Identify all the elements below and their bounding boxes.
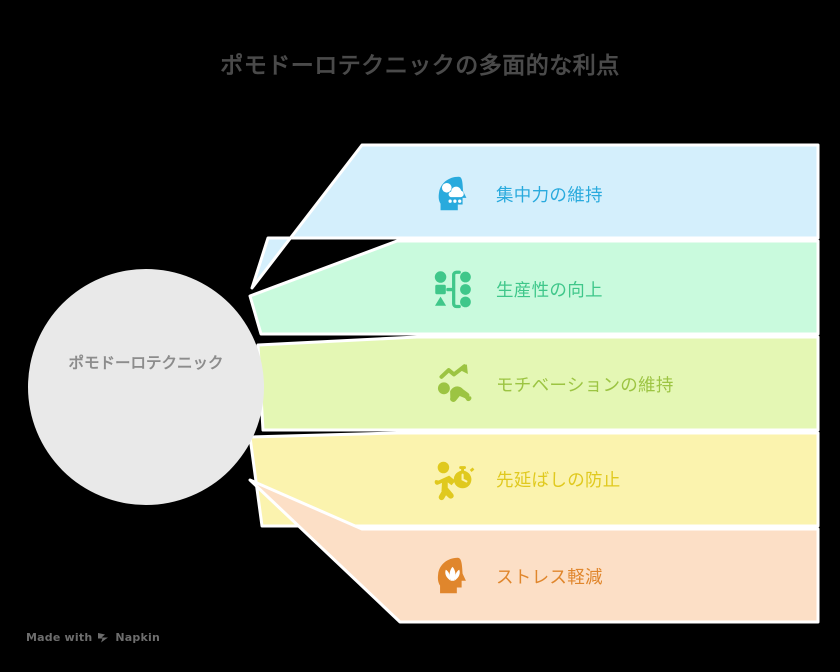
shapes-network-productivity-icon — [430, 266, 476, 312]
napkin-watermark[interactable]: Made with Napkin — [26, 631, 160, 644]
diagram-canvas: ポモドーロテクニックの多面的な利点 ポモドーロテクニック 集中力の維持 — [0, 0, 840, 672]
watermark-brand: Napkin — [115, 631, 160, 644]
center-node-label: ポモドーロテクニック — [56, 352, 236, 374]
branch-item-2[interactable]: モチベーションの維持 — [430, 356, 674, 412]
runner-trend-arrow-icon — [430, 361, 476, 407]
napkin-pen-icon — [97, 632, 110, 644]
branch-label-2: モチベーションの維持 — [496, 372, 674, 397]
branch-label-4: ストレス軽減 — [496, 564, 603, 589]
watermark-text-before: Made with — [26, 631, 92, 644]
head-cloud-focus-icon — [430, 171, 476, 217]
runner-stopwatch-icon — [430, 456, 476, 502]
branch-label-3: 先延ばしの防止 — [496, 467, 621, 492]
center-node-circle[interactable] — [28, 269, 264, 505]
branch-item-4[interactable]: ストレス軽減 — [430, 548, 603, 604]
branch-label-0: 集中力の維持 — [496, 182, 603, 207]
branch-item-1[interactable]: 生産性の向上 — [430, 261, 603, 317]
head-lotus-calm-icon — [430, 553, 476, 599]
branch-item-3[interactable]: 先延ばしの防止 — [430, 451, 621, 507]
branch-item-0[interactable]: 集中力の維持 — [430, 166, 603, 222]
radial-bands-diagram — [0, 0, 840, 672]
branch-label-1: 生産性の向上 — [496, 277, 603, 302]
